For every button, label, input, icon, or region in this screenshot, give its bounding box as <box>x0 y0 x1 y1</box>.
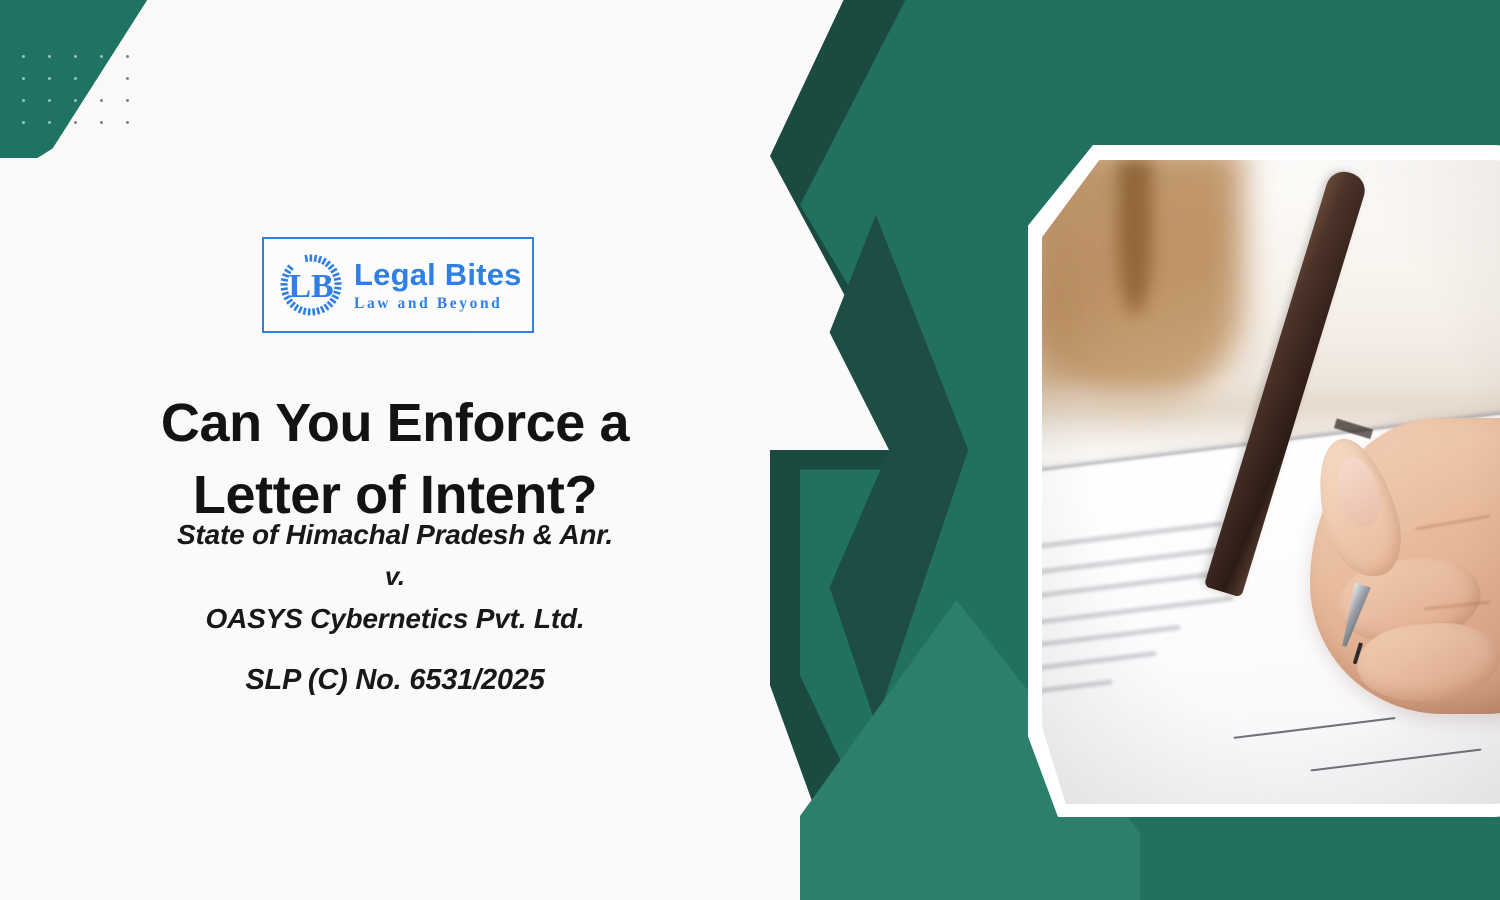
logo-tagline: Law and Beyond <box>354 296 522 312</box>
photo-vignette <box>1042 160 1500 804</box>
page-title: Can You Enforce a Letter of Intent? <box>60 388 730 532</box>
content-column: LB Legal Bites Law and Beyond Can You En… <box>0 0 790 900</box>
headline-line-1: Can You Enforce a <box>161 393 629 453</box>
logo-name: Legal Bites <box>354 259 522 290</box>
logo-wordmark: Legal Bites Law and Beyond <box>354 259 522 312</box>
case-versus: v. <box>60 556 730 596</box>
signing-document-photo <box>1042 160 1500 804</box>
logo-monogram: LB <box>288 268 333 305</box>
poster-canvas: LB Legal Bites Law and Beyond Can You En… <box>0 0 1500 900</box>
case-petitioner: State of Himachal Pradesh & Anr. <box>60 513 730 556</box>
case-citation: State of Himachal Pradesh & Anr. v. OASY… <box>60 513 730 697</box>
brand-logo[interactable]: LB Legal Bites Law and Beyond <box>262 237 534 333</box>
legal-bites-sunburst-icon: LB <box>278 252 344 318</box>
case-respondent: OASYS Cybernetics Pvt. Ltd. <box>60 597 730 640</box>
case-number: SLP (C) No. 6531/2025 <box>60 664 730 697</box>
